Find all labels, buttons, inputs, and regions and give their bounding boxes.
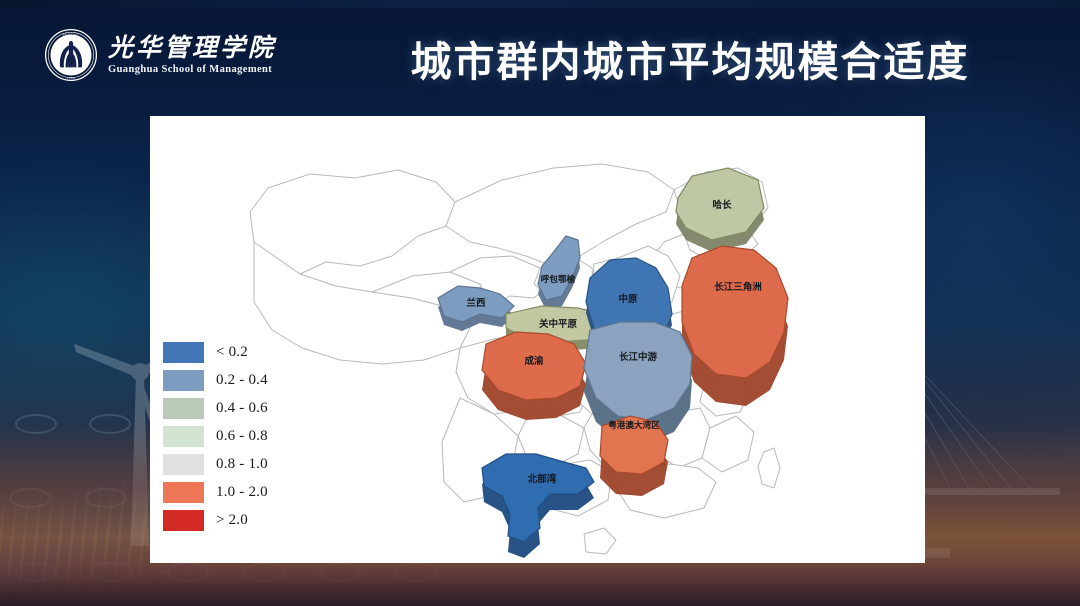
legend-swatch — [163, 370, 204, 391]
legend-swatch — [163, 342, 204, 363]
legend-label: 0.4 - 0.6 — [216, 400, 268, 417]
cluster-region-yuegangaodawanqu: 粤港澳大湾区 — [600, 416, 668, 496]
legend-item: > 2.0 — [163, 510, 278, 531]
region-label-lanxi: 兰西 — [466, 297, 486, 309]
legend-label: 0.2 - 0.4 — [216, 372, 268, 389]
map-legend: < 0.2 0.2 - 0.4 0.4 - 0.6 0.6 - 0.8 0.8 … — [163, 342, 278, 531]
content-panel: 哈长 呼包鄂榆 兰西 关中平原 — [150, 116, 925, 563]
legend-item: 1.0 - 2.0 — [163, 482, 278, 503]
legend-label: < 0.2 — [216, 344, 248, 361]
legend-label: 0.6 - 0.8 — [216, 428, 268, 445]
legend-swatch — [163, 426, 204, 447]
region-label-hachang: 哈长 — [712, 199, 732, 211]
cluster-region-changjiangsanjiaozhou: 长江三角洲 — [682, 246, 788, 406]
legend-swatch — [163, 482, 204, 503]
legend-item: 0.6 - 0.8 — [163, 426, 278, 447]
legend-item: 0.2 - 0.4 — [163, 370, 278, 391]
map-container: 哈长 呼包鄂榆 兰西 关中平原 — [150, 116, 925, 563]
slide-top-bar — [0, 0, 1080, 8]
region-label-changjiangzhongyou: 长江中游 — [619, 351, 658, 363]
legend-item: 0.4 - 0.6 — [163, 398, 278, 419]
legend-swatch — [163, 454, 204, 475]
cluster-region-chengyu: 成渝 — [482, 332, 586, 420]
legend-item: < 0.2 — [163, 342, 278, 363]
region-label-changjiangsanjiaozhou: 长江三角洲 — [714, 281, 762, 293]
legend-swatch — [163, 510, 204, 531]
presentation-slide: PEKING 1898 光华管理学院 Guanghua School of Ma… — [0, 0, 1080, 606]
legend-label: 1.0 - 2.0 — [216, 484, 268, 501]
region-label-chengyu: 成渝 — [524, 355, 544, 367]
legend-swatch — [163, 398, 204, 419]
region-label-zhongyuan: 中原 — [618, 293, 638, 305]
region-label-yuegangaodawanqu: 粤港澳大湾区 — [608, 419, 660, 431]
region-label-hubaoeyu: 呼包鄂榆 — [541, 273, 576, 285]
region-label-beibuwan: 北部湾 — [528, 473, 557, 485]
legend-label: 0.8 - 1.0 — [216, 456, 268, 473]
region-label-guanzhongpingyuan: 关中平原 — [539, 318, 578, 330]
cluster-region-beibuwan: 北部湾 — [482, 454, 594, 558]
legend-label: > 2.0 — [216, 512, 248, 529]
page-title: 城市群内城市平均规模合适度 — [0, 28, 1080, 88]
legend-item: 0.8 - 1.0 — [163, 454, 278, 475]
